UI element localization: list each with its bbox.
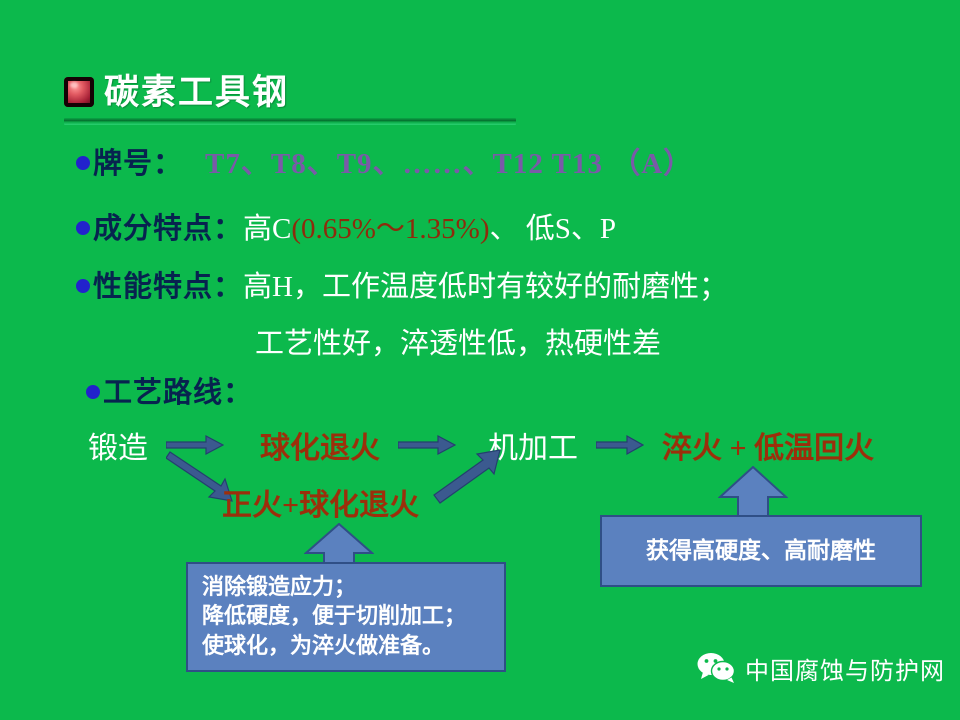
callout-right-text: 获得高硬度、高耐磨性 (646, 536, 876, 567)
bullet-process-route: 工艺路线： (86, 369, 253, 411)
bullet-composition-value-c: 、 低S、P (490, 205, 617, 247)
bullet-dot-icon (76, 221, 90, 235)
bullet-composition-value-a: 高C (243, 205, 291, 247)
bullet-performance: 性能特点： 高H，工作温度低时有较好的耐磨性； (76, 263, 728, 305)
flow-step-quench-temper: 淬火 + 低温回火 (662, 423, 874, 467)
red-sphere-icon (64, 77, 94, 107)
bullet-performance-line2: 工艺性好，淬透性低，热硬性差 (255, 320, 661, 362)
bullet-grade: 牌号： T7、T8、T9、……、T12 T13 （A） (76, 140, 693, 182)
bullet-process-route-label: 工艺路线： (103, 369, 253, 411)
bullet-dot-icon (86, 385, 100, 399)
bullet-composition: 成分特点： 高C (0.65%～1.35%) 、 低S、P (76, 205, 616, 247)
bullet-dot-icon (76, 279, 90, 293)
slide-canvas: 碳素工具钢 牌号： T7、T8、T9、……、T12 T13 （A） 成分特点： … (0, 0, 960, 720)
callout-left-line1: 消除锻造应力； (202, 573, 504, 602)
watermark: 中国腐蚀与防护网 (696, 648, 945, 688)
title-divider (64, 118, 516, 125)
flow-step-spheroidizing-anneal: 球化退火 (260, 423, 380, 467)
callout-quench-purpose: 获得高硬度、高耐磨性 (600, 515, 922, 587)
wechat-icon (696, 651, 736, 685)
process-flow-branch: 正火+球化退火 (222, 480, 419, 524)
bullet-performance-label: 性能特点： (93, 263, 243, 305)
page-title: 碳素工具钢 (104, 75, 289, 110)
bullet-performance-value2: 工艺性好，淬透性低，热硬性差 (255, 320, 661, 362)
bullet-grade-value: T7、T8、T9、……、T12 T13 （A） (205, 140, 693, 182)
callout-left-line3: 使球化，为淬火做准备。 (202, 632, 504, 661)
arrow-right-icon (596, 434, 644, 456)
bullet-grade-label: 牌号： (93, 140, 183, 182)
slide-title-bar: 碳素工具钢 (64, 66, 524, 118)
callout-anneal-purpose: 消除锻造应力； 降低硬度，便于切削加工； 使球化，为淬火做准备。 (186, 562, 506, 672)
flow-step-forging: 锻造 (88, 423, 148, 467)
bullet-performance-value: 高H，工作温度低时有较好的耐磨性； (243, 263, 728, 305)
bullet-composition-label: 成分特点： (93, 205, 243, 247)
watermark-text: 中国腐蚀与防护网 (745, 651, 945, 686)
bullet-composition-range: (0.65%～1.35%) (291, 205, 489, 247)
arrow-diagonal-up-icon (430, 448, 506, 511)
bullet-dot-icon (76, 156, 90, 170)
callout-left-line2: 降低硬度，便于切削加工； (202, 602, 504, 631)
